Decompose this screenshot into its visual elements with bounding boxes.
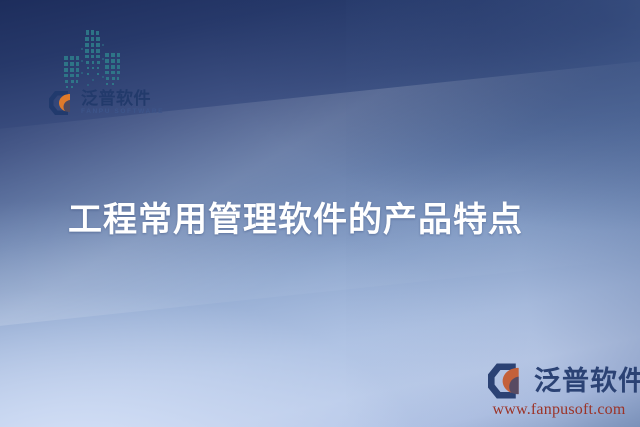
brand-name-cn: 泛普软件: [81, 90, 164, 107]
brand-name-en: FANPU SOFTWARE: [81, 109, 164, 116]
brand-logo-top: 泛普软件 FANPU SOFTWARE: [48, 90, 164, 116]
watermark: 泛普软件 www.fanpusoft.com: [486, 362, 632, 419]
watermark-url: www.fanpusoft.com: [486, 401, 632, 419]
fanpu-emblem-icon: [486, 362, 528, 400]
fanpu-emblem-icon: [48, 90, 76, 116]
page-title: 工程常用管理软件的产品特点: [68, 192, 523, 241]
watermark-logo-row: 泛普软件: [486, 362, 632, 400]
watermark-brand-cn: 泛普软件: [534, 368, 640, 395]
promo-banner: 泛普软件 FANPU SOFTWARE 工程常用管理软件的产品特点 泛普软件 w…: [0, 0, 640, 427]
brand-logo-top-text: 泛普软件 FANPU SOFTWARE: [81, 90, 164, 116]
pixel-buildings-icon: [56, 26, 128, 92]
